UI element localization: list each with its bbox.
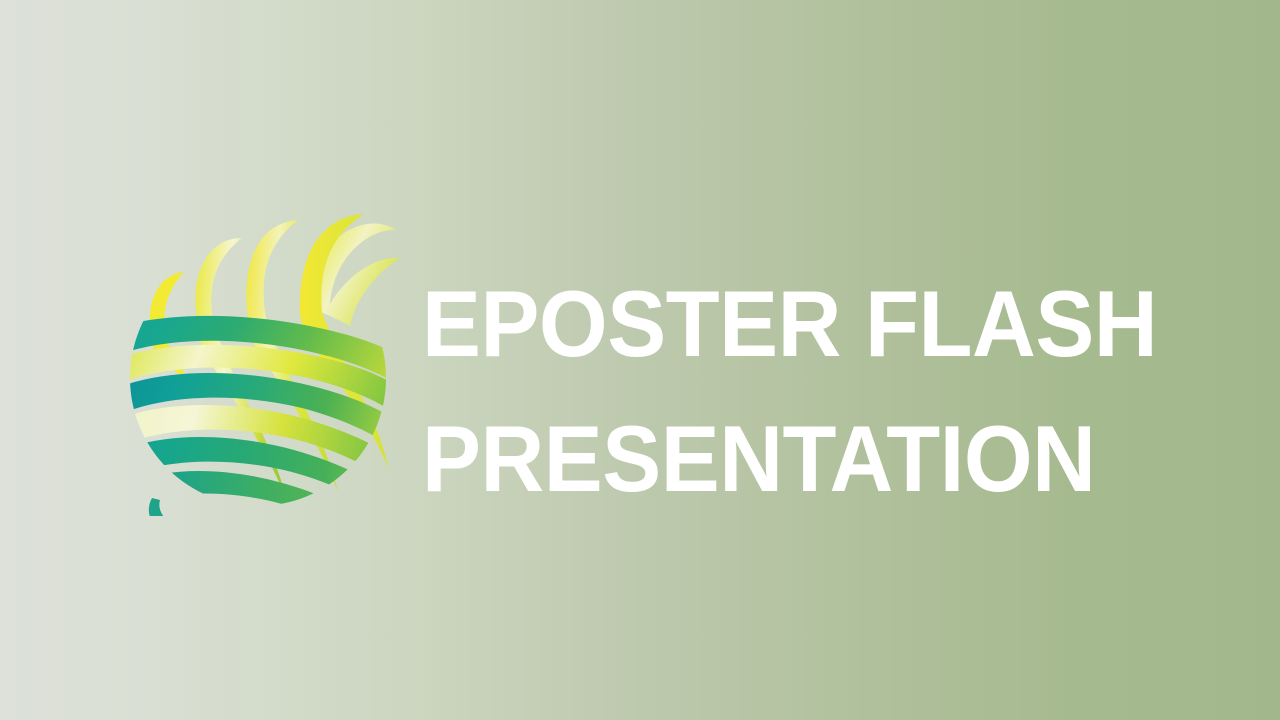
logo-bottom-curl bbox=[149, 498, 338, 516]
title-line-2: PRESENTATION bbox=[422, 391, 1174, 526]
title-slide: EPOSTER FLASH PRESENTATION bbox=[0, 0, 1280, 720]
globe-ribbon-logo bbox=[112, 200, 412, 516]
title-line-1: EPOSTER FLASH bbox=[422, 256, 1174, 391]
slide-title: EPOSTER FLASH PRESENTATION bbox=[422, 256, 1222, 526]
